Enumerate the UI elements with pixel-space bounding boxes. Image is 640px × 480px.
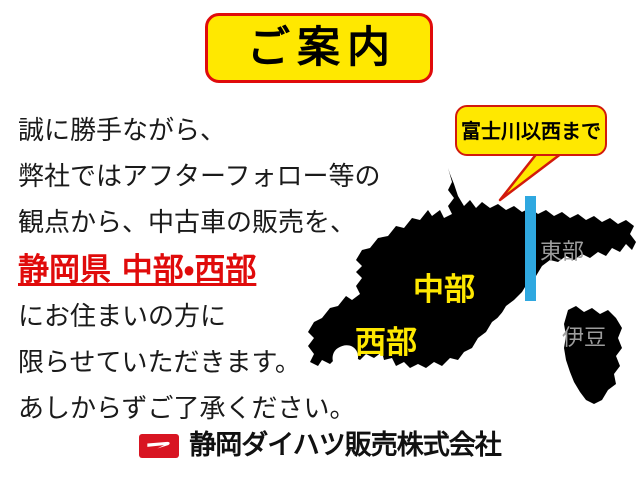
callout-balloon: 富士川以西まで <box>455 105 607 156</box>
body-line-1: 誠に勝手ながら、 <box>18 108 378 154</box>
shizuoka-map: 中部 西部 東部 伊豆 <box>300 160 640 410</box>
company-name: 静岡ダイハツ販売株式会社 <box>189 432 500 459</box>
region-label-chubu: 中部 <box>413 275 475 306</box>
notice-page: ご案内 誠に勝手ながら、 弊社ではアフターフォロー等の 観点から、中古車の販売を… <box>0 0 640 480</box>
callout-label: 富士川以西まで <box>461 121 601 141</box>
region-label-izu: 伊豆 <box>562 328 606 350</box>
region-label-tobu: 東部 <box>540 242 584 264</box>
region-label-seibu: 西部 <box>355 328 417 359</box>
fuji-river-divider-line <box>525 196 536 301</box>
daihatsu-d-mark-icon <box>142 436 176 456</box>
callout-tail <box>498 150 568 202</box>
daihatsu-logo-icon <box>139 434 179 458</box>
footer: 静岡ダイハツ販売株式会社 <box>0 432 640 459</box>
page-title: ご案内 <box>241 27 397 70</box>
header-banner: ご案内 <box>205 13 433 83</box>
